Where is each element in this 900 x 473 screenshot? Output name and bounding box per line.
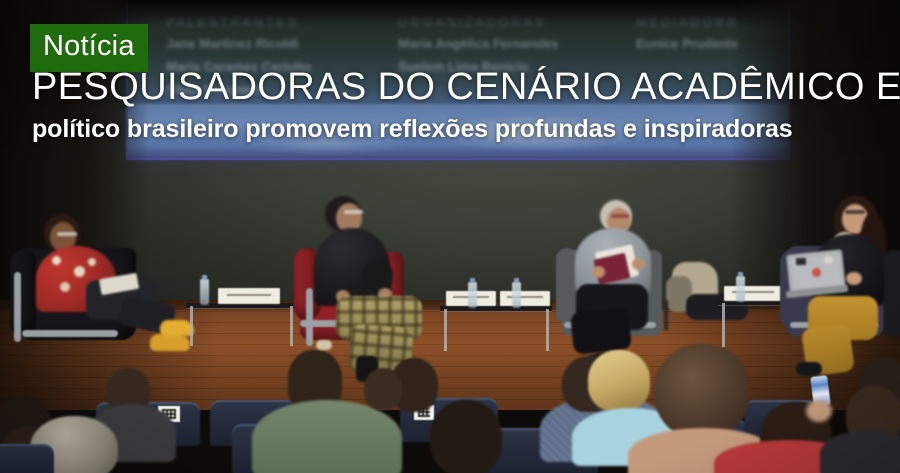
page-subtitle: político brasileiro promovem reflexões p… [32, 114, 793, 144]
audience-head [588, 350, 650, 412]
audience-head [654, 344, 750, 440]
page-title: PESQUISADORAS DO CENÁRIO ACADÊMICO E [32, 66, 900, 108]
category-badge: Notícia [30, 24, 148, 72]
headline-overlay: Notícia PESQUISADORAS DO CENÁRIO ACADÊMI… [0, 0, 900, 170]
audience-head [430, 400, 502, 473]
audience-seat [0, 444, 54, 473]
news-banner: PALESTRANTES Jane Martinez Ricoldi Maria… [0, 0, 900, 473]
audience-head [364, 368, 402, 410]
stage-chair-far-right [884, 250, 900, 336]
